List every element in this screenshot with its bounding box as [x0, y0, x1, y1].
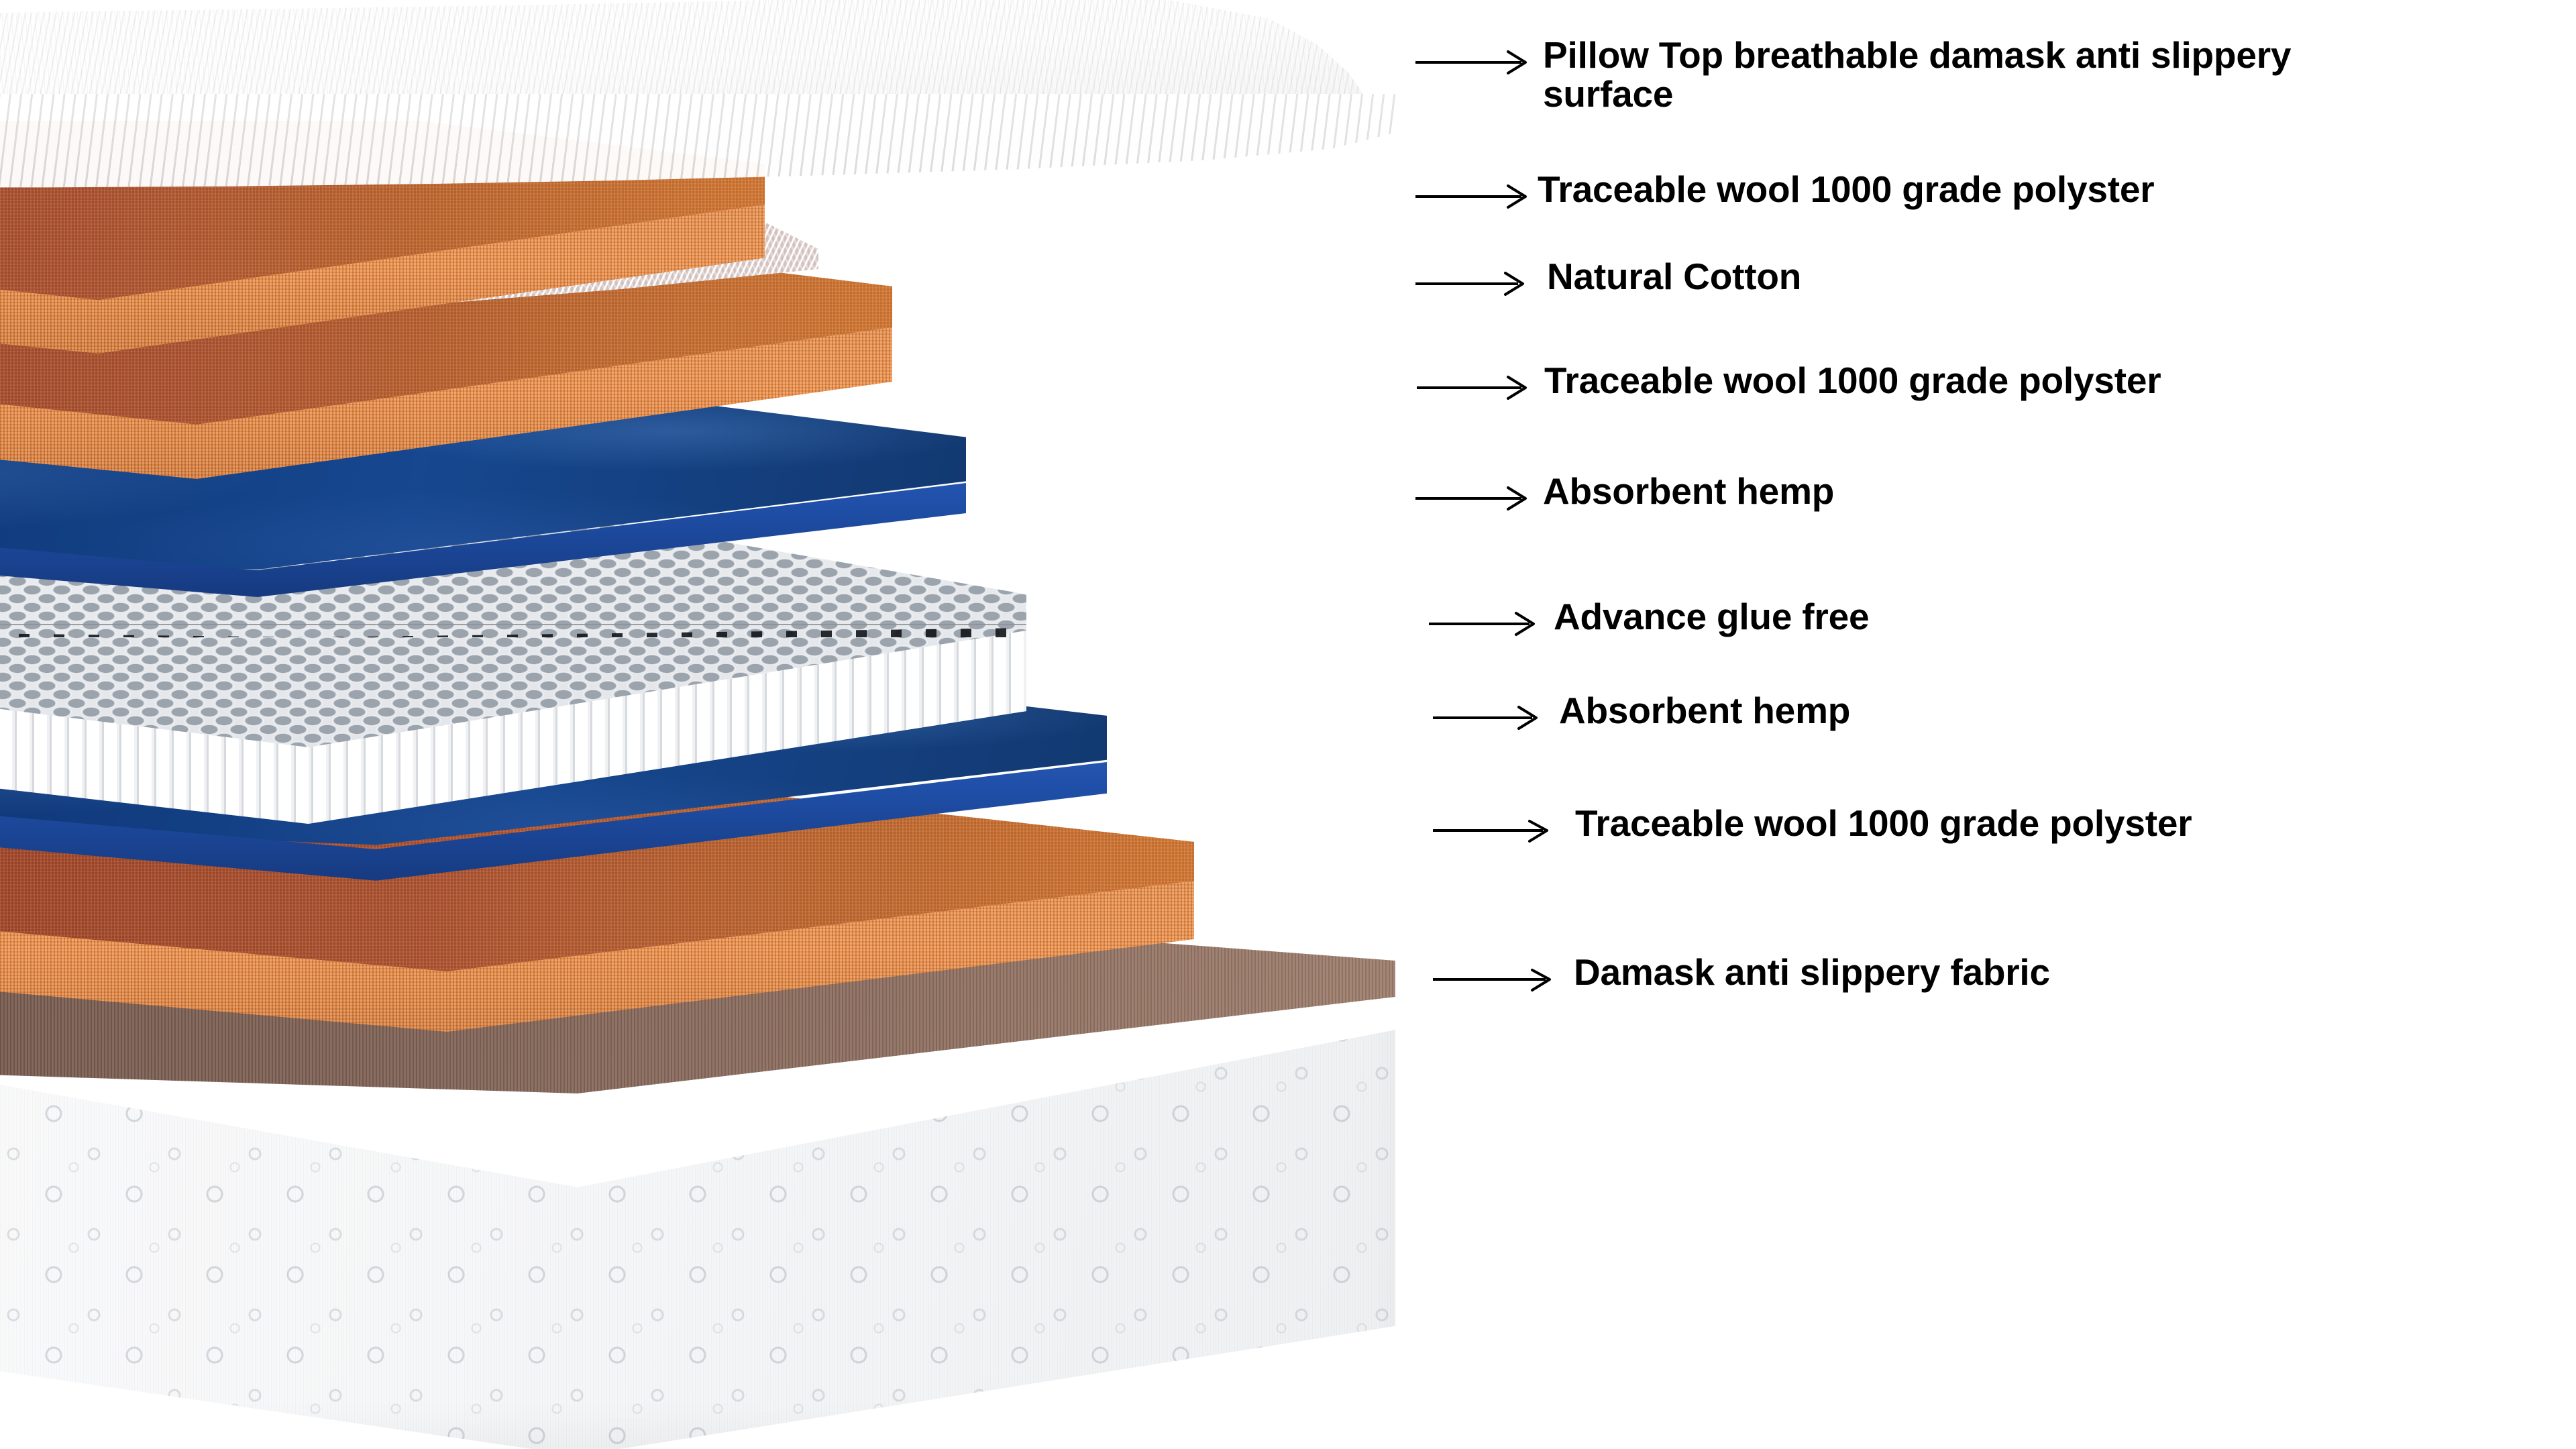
- arrow-icon: [1432, 954, 1559, 994]
- callout-label: Absorbent hemp: [1559, 691, 1850, 730]
- callout-advance-glue-free: Advance glue free: [1428, 598, 1869, 639]
- layer-pillow-top: [0, 0, 1395, 195]
- pillow-top-gusset-edge: [0, 94, 1395, 208]
- callout-list: Pillow Top breathable damask anti slippe…: [1409, 0, 2576, 1449]
- callout-wool-polyester-1: Traceable wool 1000 grade polyster: [1414, 171, 2154, 211]
- callout-natural-cotton: Natural Cotton: [1414, 258, 1801, 299]
- arrow-icon: [1414, 473, 1535, 513]
- callout-label: Natural Cotton: [1547, 257, 1801, 296]
- arrow-icon: [1414, 258, 1535, 299]
- arrow-icon: [1428, 598, 1548, 639]
- arrow-icon: [1414, 171, 1535, 211]
- arrow-icon: [1415, 362, 1536, 402]
- arrow-icon: [1414, 37, 1535, 77]
- callout-pillow-top: Pillow Top breathable damask anti slippe…: [1414, 37, 2291, 114]
- callout-wool-polyester-3: Traceable wool 1000 grade polyster: [1432, 805, 2192, 845]
- callout-label: Traceable wool 1000 grade polyster: [1538, 170, 2154, 209]
- callout-label: Traceable wool 1000 grade polyster: [1544, 361, 2161, 400]
- callout-damask-base: Damask anti slippery fabric: [1432, 954, 2050, 994]
- callout-label: Advance glue free: [1554, 597, 1869, 636]
- mattress-layer-diagram: [0, 0, 1409, 1449]
- callout-absorbent-hemp-1: Absorbent hemp: [1414, 473, 1834, 513]
- callout-label: Damask anti slippery fabric: [1574, 953, 2050, 991]
- arrow-icon: [1432, 805, 1559, 845]
- callout-label: Pillow Top breathable damask anti slippe…: [1543, 36, 2291, 114]
- callout-label: Absorbent hemp: [1543, 472, 1834, 511]
- callout-label: Traceable wool 1000 grade polyster: [1575, 804, 2192, 843]
- callout-wool-polyester-2: Traceable wool 1000 grade polyster: [1415, 362, 2161, 402]
- arrow-icon: [1432, 692, 1552, 733]
- callout-absorbent-hemp-2: Absorbent hemp: [1432, 692, 1850, 733]
